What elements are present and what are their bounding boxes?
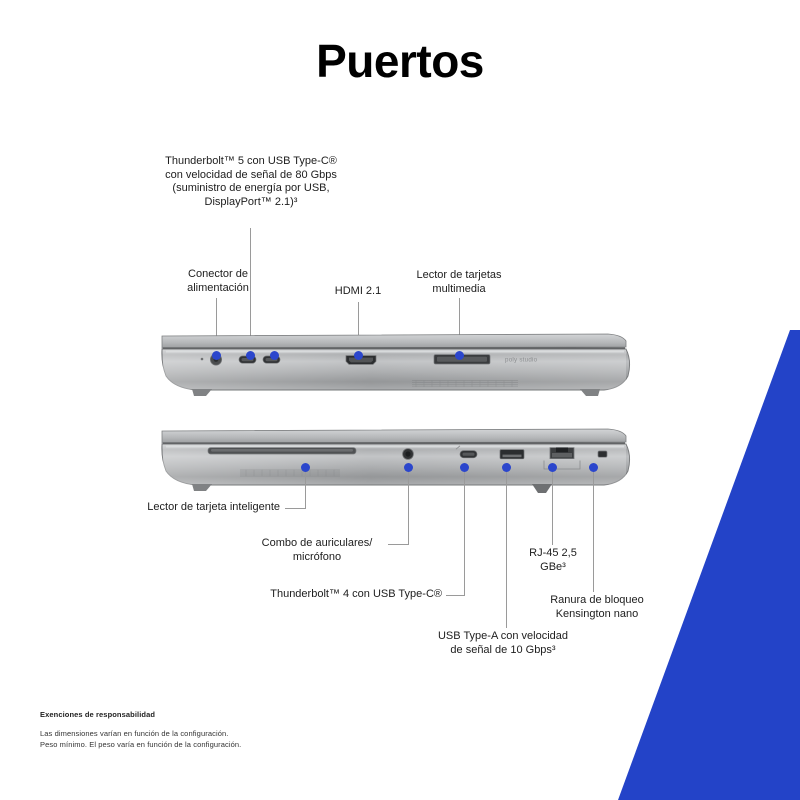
leader-line-rj45 [552,472,553,545]
callout-rj45: RJ-45 2,5 GBe³ [500,547,606,574]
laptop-right-side-view [160,425,640,495]
leader-line-thunderbolt-4-h [446,595,465,596]
port-dot-thunderbolt-5-b[interactable] [270,351,279,360]
callout-headphone-combo: Combo de auriculares/ micrófono [232,537,402,564]
leader-line-thunderbolt-4-v [464,472,465,595]
leader-line-kensington [593,472,594,592]
port-dot-power-connector[interactable] [212,351,221,360]
blue-corner-wedge [0,0,800,800]
port-dot-thunderbolt-4[interactable] [460,463,469,472]
disclaimer-block: Exenciones de responsabilidad Las dimens… [40,710,460,750]
leader-line-headphone-combo-v [408,472,409,544]
callout-media-card-reader: Lector de tarjetas multimedia [389,269,529,296]
poly-studio-brandmark-top: poly studio [505,357,538,364]
callout-kensington: Ranura de bloqueo Kensington nano [517,594,677,621]
callout-usb-type-a: USB Type-A con velocidad de señal de 10 … [413,630,593,657]
callout-smart-card-reader: Lector de tarjeta inteligente [52,501,280,515]
callout-thunderbolt-4: Thunderbolt™ 4 con USB Type-C® [190,588,442,602]
callout-thunderbolt-5: Thunderbolt™ 5 con USB Type-C® con veloc… [111,155,391,209]
port-dot-headphone-combo[interactable] [404,463,413,472]
leader-line-smart-card-reader-v [305,472,306,508]
page-title: Puertos [0,34,800,88]
leader-line-smart-card-reader-h [285,508,306,509]
leader-line-headphone-combo-h [388,544,409,545]
disclaimer-title: Exenciones de responsabilidad [40,710,460,719]
disclaimer-line-2: Peso mínimo. El peso varía en función de… [40,739,460,750]
callout-power-connector: Conector de alimentación [148,268,288,295]
disclaimer-line-1: Las dimensiones varían en función de la … [40,728,460,739]
port-dot-rj45[interactable] [548,463,557,472]
port-dot-thunderbolt-5-a[interactable] [246,351,255,360]
laptop-left-side-view: poly studio [160,330,640,400]
port-dot-kensington[interactable] [589,463,598,472]
ports-infographic-page: Puertos Thunderbolt™ 5 con USB Type-C® c… [0,0,800,800]
port-dot-smart-card-reader[interactable] [301,463,310,472]
port-dot-usb-type-a[interactable] [502,463,511,472]
leader-line-usb-type-a [506,472,507,628]
port-dot-media-card-reader[interactable] [455,351,464,360]
port-dot-hdmi[interactable] [354,351,363,360]
